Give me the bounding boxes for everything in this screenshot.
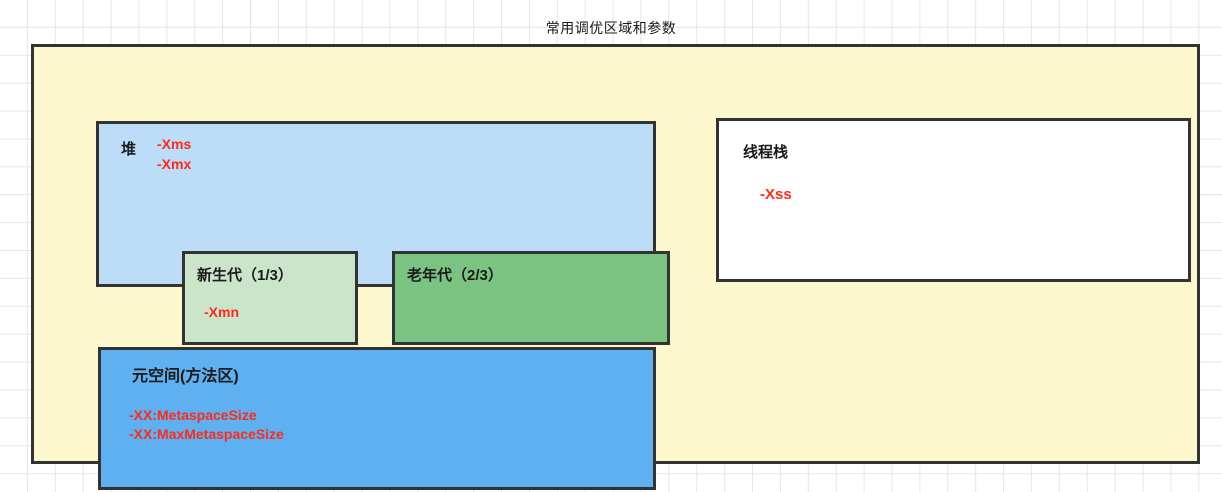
diagram-title: 常用调优区域和参数: [0, 18, 1222, 38]
metaspace-box: 元空间(方法区) -XX:MetaspaceSize -XX:MaxMetasp…: [98, 347, 656, 490]
young-generation-param-xmn: -Xmn: [204, 304, 239, 320]
old-generation-box: 老年代（2/3）: [392, 251, 670, 345]
metaspace-label: 元空间(方法区): [132, 362, 239, 386]
old-generation-label: 老年代（2/3）: [407, 264, 503, 285]
heap-box: 堆 -Xms -Xmx 新生代（1/3） -Xmn 老年代（2/3）: [96, 121, 656, 287]
thread-stack-box: 线程栈 -Xss: [716, 118, 1191, 282]
tuning-region-box: 堆 -Xms -Xmx 新生代（1/3） -Xmn 老年代（2/3） 元空间(方…: [31, 44, 1200, 464]
heap-param-xmx: -Xmx: [157, 154, 191, 174]
metaspace-param-max-size: -XX:MaxMetaspaceSize: [129, 425, 284, 444]
metaspace-param-size: -XX:MetaspaceSize: [129, 406, 284, 425]
diagram-canvas: 常用调优区域和参数 堆 -Xms -Xmx 新生代（1/3） -Xmn 老年代（…: [0, 0, 1222, 492]
heap-label: 堆: [121, 138, 136, 159]
thread-stack-label: 线程栈: [743, 141, 788, 162]
thread-stack-param-xss: -Xss: [760, 186, 792, 203]
young-generation-box: 新生代（1/3） -Xmn: [182, 251, 358, 345]
heap-param-xms: -Xms: [157, 134, 191, 154]
heap-params: -Xms -Xmx: [157, 134, 191, 174]
young-generation-label: 新生代（1/3）: [197, 264, 293, 285]
metaspace-params: -XX:MetaspaceSize -XX:MaxMetaspaceSize: [129, 406, 284, 444]
